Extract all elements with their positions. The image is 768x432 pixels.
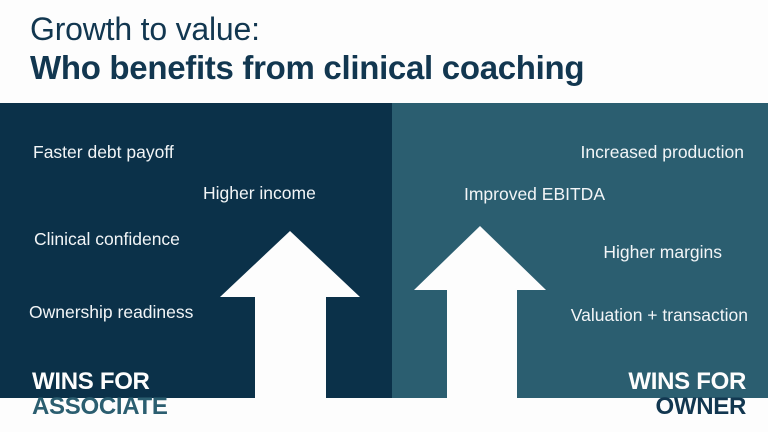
page-title: Who benefits from clinical coaching: [30, 50, 584, 86]
benefit-item-associate-1: Faster debt payoff: [33, 144, 174, 162]
slide-root: Growth to value: Who benefits from clini…: [0, 0, 768, 432]
benefit-item-owner-4: Valuation + transaction: [571, 307, 748, 325]
benefit-item-owner-1: Increased production: [581, 144, 744, 162]
wins-label-owner-line1: WINS FOR: [628, 369, 746, 394]
arrow-head: [220, 231, 360, 297]
wins-label-associate: WINS FOR ASSOCIATE: [32, 369, 168, 419]
wins-label-owner-line2: OWNER: [628, 394, 746, 419]
arrow-shaft: [447, 288, 517, 432]
arrow-shaft: [255, 295, 326, 432]
wins-label-associate-line2: ASSOCIATE: [32, 394, 168, 419]
benefit-item-associate-4: Ownership readiness: [29, 304, 193, 322]
benefit-item-associate-3: Clinical confidence: [34, 231, 180, 249]
wins-label-associate-line1: WINS FOR: [32, 369, 168, 394]
slide-header: Growth to value: Who benefits from clini…: [0, 0, 768, 103]
page-title-subtitle: Growth to value:: [30, 12, 260, 47]
arrow-head: [414, 226, 546, 290]
benefit-item-owner-3: Higher margins: [603, 244, 722, 262]
benefit-item-owner-2: Improved EBITDA: [464, 186, 605, 204]
wins-label-owner: WINS FOR OWNER: [628, 369, 746, 419]
benefit-item-associate-2: Higher income: [203, 185, 316, 203]
